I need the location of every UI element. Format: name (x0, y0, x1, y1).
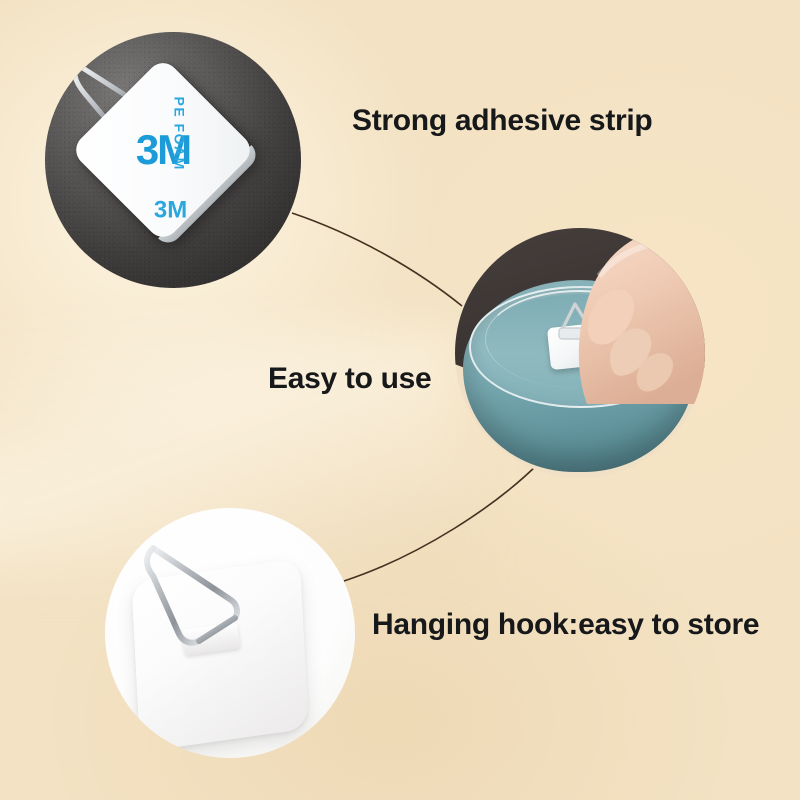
brand-3m-label-secondary: 3M (154, 196, 187, 224)
pe-foam-label-right: PE FOAM (171, 97, 187, 171)
caption-strong-adhesive-strip: Strong adhesive strip (352, 104, 652, 138)
caption-easy-to-use: Easy to use (268, 362, 431, 396)
caption-hanging-hook: Hanging hook:easy to store (372, 608, 759, 642)
connector-line-adhesive-to-bowl (292, 213, 462, 306)
inset-bowl-in-use (455, 228, 705, 478)
inset-adhesive-pad: 3M PE FOAM 3M (45, 32, 301, 288)
product-infographic: 3M PE FOAM 3M (0, 0, 800, 800)
connector-line-hook-to-bowl (344, 462, 540, 581)
chrome-wire-hanger-icon (105, 508, 355, 758)
inset-hanging-hook (105, 508, 355, 758)
hand-illustration (559, 228, 705, 406)
